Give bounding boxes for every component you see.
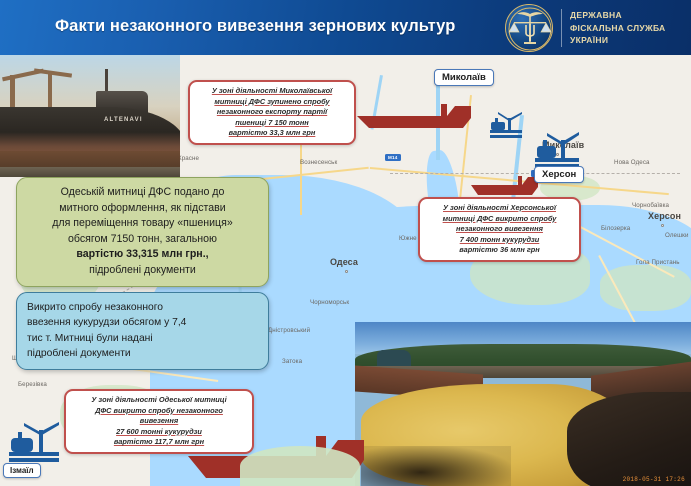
map-dot-kherson: [661, 224, 664, 227]
info-line-emphasis: вартістю 33,315 млн грн.,: [26, 247, 259, 263]
grain-barge-photo: 2018-05-31 17:26: [355, 322, 691, 486]
callout-line: У зоні діяльності Миколаївської: [196, 86, 348, 97]
photo-water: [0, 167, 180, 177]
info-line: для переміщення товару «пшениця»: [26, 216, 259, 232]
callout-line: пшениці 7 150 тонн: [196, 118, 348, 129]
city-pill-kherson[interactable]: Херсон: [534, 166, 584, 183]
land-patch-kherson-south: [600, 265, 691, 311]
map-label-hola-prystan: Гола Пристань: [636, 259, 680, 266]
map-label-krasne: Красне: [178, 155, 199, 162]
callout-line: У зоні діяльності Одеської митниці: [72, 395, 246, 406]
photo-crane-mid-boom: [34, 68, 72, 77]
callout-odesa[interactable]: У зоні діяльності Одеської митниці ДФС в…: [64, 389, 254, 454]
map-label-chornobaivka: Чорнобаївка: [632, 202, 669, 209]
info-line: підроблені документи: [26, 263, 259, 279]
callout-line: ДФС викрито спробу незаконного: [72, 406, 246, 417]
map-label-oleshky: Олешки: [665, 232, 689, 239]
info-box-wheat[interactable]: Одеській митниці ДФС подано до митного о…: [16, 177, 269, 287]
map-label-bilozerka: Білозерка: [601, 225, 630, 232]
city-pill-izmail[interactable]: Ізмаїл: [3, 463, 41, 478]
info-line: Одеській митниці ДФС подано до: [26, 185, 259, 201]
map-label-nova-odesa: Нова Одеса: [614, 159, 650, 166]
callout-line: вартістю 33,3 млн грн: [196, 128, 348, 139]
city-pill-mykolaiv[interactable]: Миколаїв: [434, 69, 494, 86]
agency-name-line-1: ДЕРЖАВНА: [570, 9, 665, 22]
photo-hold-shadow: [567, 392, 691, 486]
callout-line: вивезення: [72, 416, 246, 427]
callout-line: У зоні діяльності Херсонської: [426, 203, 573, 214]
photo-timestamp: 2018-05-31 17:26: [623, 476, 685, 483]
ship-photo: ALTENAVI: [0, 55, 180, 177]
page-title: Факти незаконного вивезення зернових кул…: [55, 17, 455, 36]
callout-line: вартістю 117,7 млн грн: [72, 437, 246, 448]
map-dot-odesa: [345, 270, 348, 273]
info-line: Викрито спробу незаконного: [27, 300, 258, 315]
callout-line: 7 400 тонн кукурудзи: [426, 235, 573, 246]
callout-line: митниці ДФС зупинено спробу: [196, 97, 348, 108]
port-crane-icon-izmail: [8, 420, 60, 466]
info-line: підроблені документи: [27, 346, 258, 361]
callout-line: незаконного вивезення: [426, 224, 573, 235]
port-crane-icon-mykolaiv: [489, 110, 523, 140]
callout-line: митниці ДФС викрито спробу: [426, 214, 573, 225]
photo-person-shadow: [361, 446, 511, 486]
agency-name-line-3: УКРАЇНИ: [570, 34, 665, 47]
agency-name-line-2: ФІСКАЛЬНА СЛУЖБА: [570, 22, 665, 35]
map-label-berezivka: Березівка: [18, 381, 47, 388]
callout-line: вартістю 36 млн грн: [426, 245, 573, 256]
callout-line: незаконного експорту партії: [196, 107, 348, 118]
callout-kherson[interactable]: У зоні діяльності Херсонської митниці ДФ…: [418, 197, 581, 262]
info-line: обсягом 7150 тонн, загальною: [26, 232, 259, 248]
slide-root: M14 M14 M15 E95 M14 Миколаїв Херсон Одес…: [0, 0, 691, 486]
info-line: тис т. Митниці були надані: [27, 331, 258, 346]
map-label-chornomorsk: Чорноморськ: [310, 299, 349, 306]
logo-divider: [561, 9, 562, 47]
vessel-name-text: ALTENAVI: [104, 117, 143, 123]
callout-mykolaiv[interactable]: У зоні діяльності Миколаївської митниці …: [188, 80, 356, 145]
info-box-corn[interactable]: Викрито спробу незаконного ввезення куку…: [16, 292, 269, 370]
callout-line: 27 600 тонні кукурудзи: [72, 427, 246, 438]
map-label-yuzhne: Южне: [399, 235, 417, 242]
map-label-zatoka: Затока: [282, 358, 302, 365]
map-label-odesa: Одеса: [330, 257, 358, 267]
map-label-voznesensk: Вознесенськ: [300, 159, 337, 166]
agency-name: ДЕРЖАВНА ФІСКАЛЬНА СЛУЖБА УКРАЇНИ: [570, 9, 665, 47]
scales-trident-emblem-icon: [505, 4, 553, 52]
land-patch-izmail: [240, 446, 360, 486]
road-shield-m14-a: M14: [385, 154, 401, 161]
agency-logo: ДЕРЖАВНА ФІСКАЛЬНА СЛУЖБА УКРАЇНИ: [505, 2, 691, 54]
ship-marker-mykolaiv: [355, 102, 473, 136]
info-line: митного оформлення, як підстави: [26, 201, 259, 217]
info-line: ввезення кукурудзи обсягом у 7,4: [27, 315, 258, 330]
map-label-kherson: Херсон: [648, 211, 681, 221]
header-bar: Факти незаконного вивезення зернових кул…: [0, 0, 691, 55]
